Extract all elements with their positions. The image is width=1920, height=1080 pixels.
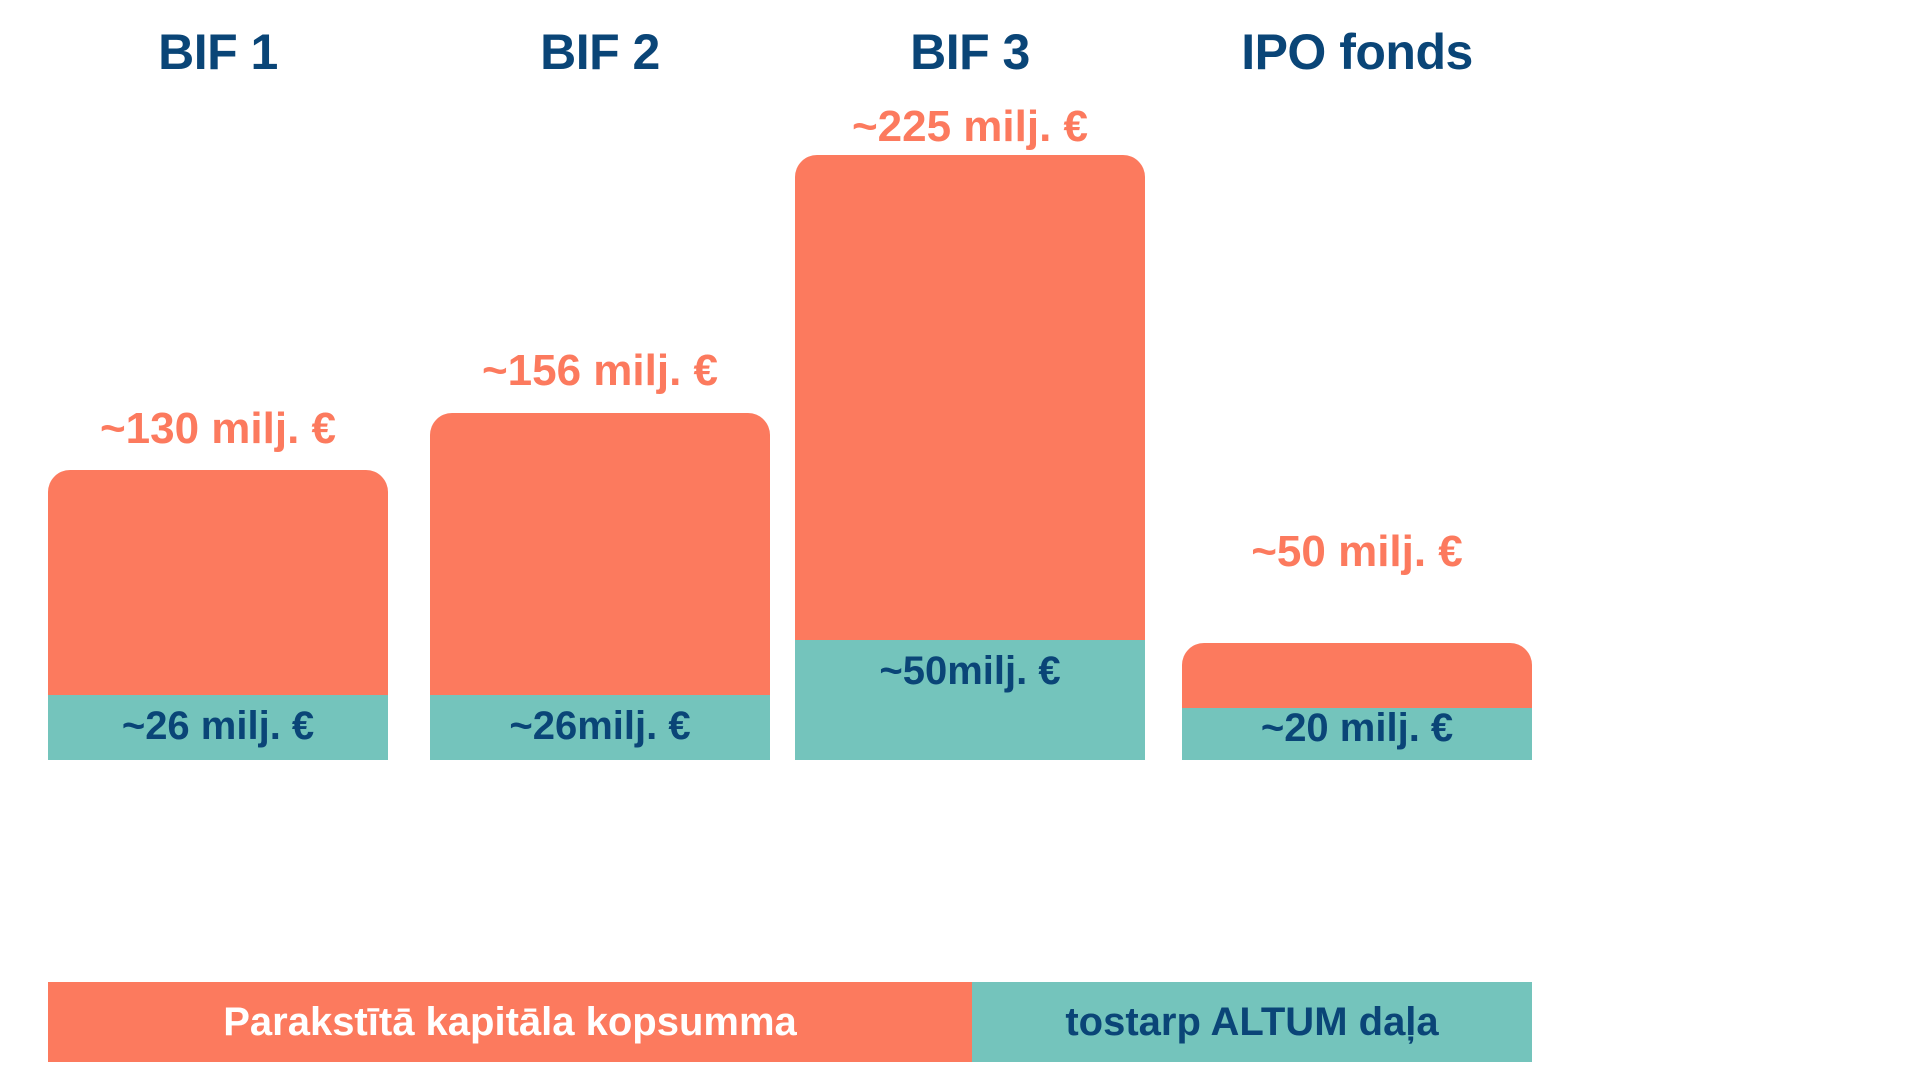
column-header-bif-1: BIF 1: [48, 22, 388, 82]
column-header-bif-3: BIF 3: [795, 22, 1145, 82]
total-value-label-bif-2: ~156 milj. €: [430, 345, 770, 397]
legend-item-total: Parakstītā kapitāla kopsumma: [48, 982, 972, 1062]
legend-item-altum: tostarp ALTUM daļa: [972, 982, 1532, 1062]
column-header-bif-2: BIF 2: [430, 22, 770, 82]
column-header-ipo-fonds: IPO fonds: [1182, 22, 1532, 82]
altum-value-label-bif-3: ~50milj. €: [795, 648, 1145, 694]
total-value-label-bif-3: ~225 milj. €: [795, 101, 1145, 153]
legend-item-altum-label: tostarp ALTUM daļa: [1065, 999, 1438, 1045]
total-value-label-bif-1: ~130 milj. €: [48, 403, 388, 455]
total-value-label-ipo-fonds: ~50 milj. €: [1182, 526, 1532, 578]
altum-value-label-bif-2: ~26milj. €: [430, 703, 770, 749]
altum-value-label-ipo-fonds: ~20 milj. €: [1182, 705, 1532, 751]
legend: Parakstītā kapitāla kopsumma tostarp ALT…: [48, 982, 1532, 1062]
altum-value-label-bif-1: ~26 milj. €: [48, 703, 388, 749]
bar-chart: BIF 1 BIF 2 BIF 3 IPO fonds ~130 milj. €…: [0, 0, 1920, 1080]
legend-item-total-label: Parakstītā kapitāla kopsumma: [223, 999, 797, 1045]
